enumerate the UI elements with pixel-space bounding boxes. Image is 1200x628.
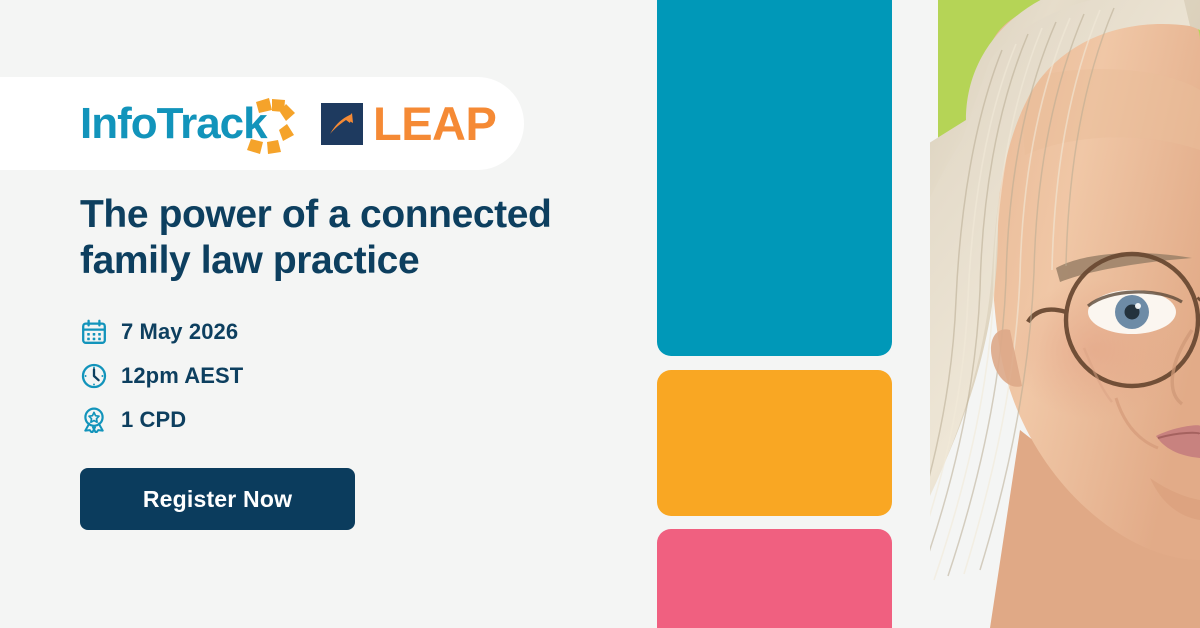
teal-block <box>657 0 892 356</box>
promo-content: The power of a connected family law prac… <box>80 192 620 530</box>
webinar-promo-banner: InfoTrack LEAP The powe <box>0 0 1200 628</box>
leap-logo: LEAP <box>321 100 496 148</box>
headline-line-1: The power of a connected <box>80 193 551 236</box>
presenter-portrait <box>870 0 1200 628</box>
event-time-row: 12pm AEST <box>80 354 620 398</box>
register-now-button[interactable]: Register Now <box>80 468 355 530</box>
clock-icon <box>80 363 107 390</box>
event-cpd-label: 1 CPD <box>121 407 186 433</box>
calendar-icon <box>80 319 107 346</box>
leap-wordmark: LEAP <box>373 100 496 147</box>
event-date-label: 7 May 2026 <box>121 319 238 345</box>
event-details-list: 7 May 2026 12pm AEST <box>80 310 620 442</box>
leap-mark-icon <box>321 103 363 145</box>
award-ribbon-icon <box>80 407 107 434</box>
svg-text:InfoTrack: InfoTrack <box>80 99 268 148</box>
pink-block <box>657 529 892 628</box>
page-title: The power of a connected family law prac… <box>80 192 600 284</box>
event-cpd-row: 1 CPD <box>80 398 620 442</box>
infotrack-logo: InfoTrack <box>80 96 295 152</box>
headline-line-2: family law practice <box>80 239 419 282</box>
event-time-label: 12pm AEST <box>121 363 243 389</box>
event-date-row: 7 May 2026 <box>80 310 620 354</box>
partner-logo-panel: InfoTrack LEAP <box>0 77 524 170</box>
orange-block <box>657 370 892 516</box>
